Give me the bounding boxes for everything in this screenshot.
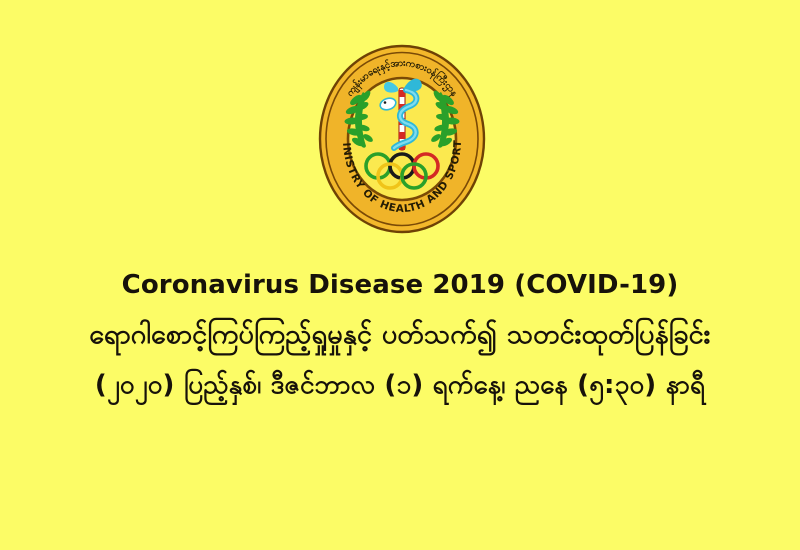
announcement-dateline-myanmar: (၂၀၂၀) ပြည့်နှစ်၊ ဒီဇင်ဘာလ (၁) ရက်နေ့၊ ည…: [0, 372, 800, 399]
ministry-seal-logo: ကျန်းမာရေးနှင့်အားကစားဝန်ကြီးဌာန MINISTR…: [318, 44, 486, 234]
announcement-headline-myanmar: ရောဂါစောင့်ကြပ်ကြည့်ရှုမှုနှင့် ပတ်သက်၍ …: [0, 321, 800, 349]
seal-graphic: ကျန်းမာရေးနှင့်အားကစားဝန်ကြီးဌာန MINISTR…: [318, 44, 486, 234]
announcement-title-english: Coronavirus Disease 2019 (COVID-19): [0, 272, 800, 299]
covid-announcement-poster: ကျန်းမာရေးနှင့်အားကစားဝန်ကြီးဌာန MINISTR…: [0, 0, 800, 550]
announcement-text-block: Coronavirus Disease 2019 (COVID-19) ရောဂ…: [0, 272, 800, 399]
